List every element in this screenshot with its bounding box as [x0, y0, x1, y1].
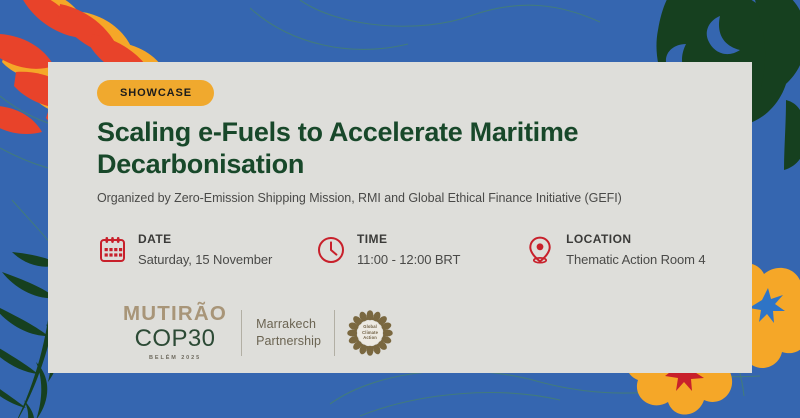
event-location-value: Thematic Action Room 4: [566, 252, 705, 267]
event-time-value: 11:00 - 12:00 BRT: [357, 252, 460, 267]
organizer-text: Organized by Zero-Emission Shipping Miss…: [97, 191, 752, 205]
event-date-value: Saturday, 15 November: [138, 252, 272, 267]
event-time-label: TIME: [357, 232, 387, 246]
gca-line3: Action: [363, 335, 377, 341]
calendar-icon: [97, 235, 127, 265]
logo-row: MUTIRÃO COP30 BELÉM 2025 Marrakech Partn…: [123, 304, 393, 361]
global-climate-action-emblem: Global Climate Action: [347, 310, 393, 356]
event-details-row: DATE Saturday, 15 November TIME 11:00 - …: [97, 229, 752, 270]
event-location-item: LOCATION Thematic Action Room 4: [525, 229, 752, 270]
event-date-label: DATE: [138, 232, 172, 246]
page-title: Scaling e-Fuels to Accelerate Maritime D…: [97, 117, 717, 180]
clock-icon: [316, 235, 346, 265]
marrakech-partnership-logo: Marrakech Partnership: [256, 316, 321, 349]
cop30-text: COP30: [123, 327, 227, 351]
marrakech-divider: [334, 310, 335, 356]
event-time-item: TIME 11:00 - 12:00 BRT: [316, 229, 525, 270]
event-location-label: LOCATION: [566, 232, 631, 246]
logo-divider: [241, 310, 242, 356]
event-card: SHOWCASE Scaling e-Fuels to Accelerate M…: [48, 62, 752, 373]
marrakech-line2: Partnership: [256, 333, 321, 350]
event-date-item: DATE Saturday, 15 November: [97, 229, 316, 270]
cop30-belem-text: BELÉM 2025: [123, 356, 227, 362]
gca-label: Global Climate Action: [347, 310, 393, 356]
cop30-logo: MUTIRÃO COP30 BELÉM 2025: [123, 304, 227, 361]
marrakech-line1: Marrakech: [256, 316, 321, 333]
showcase-badge: SHOWCASE: [97, 80, 214, 106]
map-pin-icon: [525, 235, 555, 265]
cop30-mutirao-text: MUTIRÃO: [123, 304, 227, 325]
event-poster: SHOWCASE Scaling e-Fuels to Accelerate M…: [0, 0, 800, 418]
